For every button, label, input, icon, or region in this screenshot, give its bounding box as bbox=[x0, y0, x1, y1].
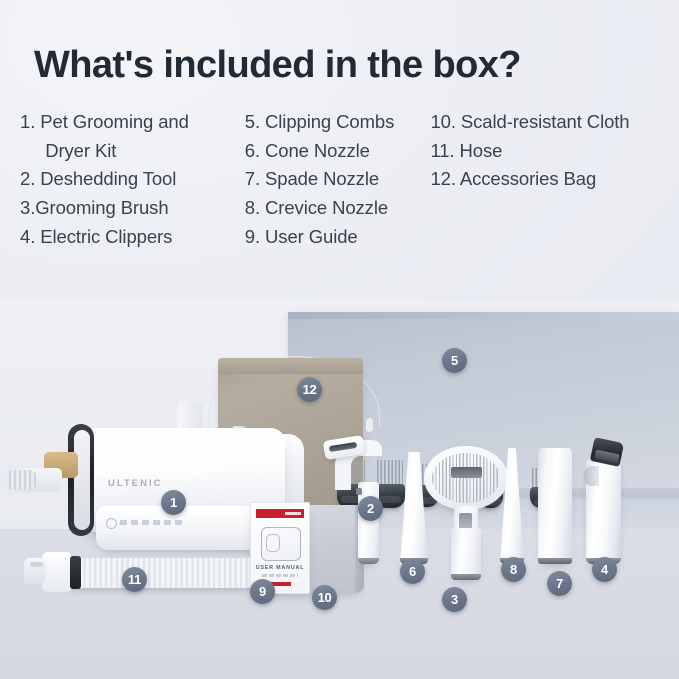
list-item: 10. Scald-resistant Cloth bbox=[430, 108, 665, 137]
deshedding-tool-base bbox=[358, 558, 379, 564]
hose-connector-ribs bbox=[6, 470, 36, 490]
list-item: 5. Clipping Combs bbox=[245, 108, 431, 137]
list-item: 1. Pet Grooming and Dryer Kit bbox=[20, 108, 245, 165]
badge-11: 11 bbox=[122, 567, 147, 592]
hose-cuff bbox=[42, 552, 72, 592]
grooming-brush-bristles bbox=[432, 453, 500, 503]
grooming-brush-stem bbox=[451, 528, 481, 580]
page-title: What's included in the box? bbox=[34, 44, 521, 87]
manual-header-bar bbox=[256, 509, 304, 518]
badge-12: 12 bbox=[297, 377, 322, 402]
infographic-canvas: What's included in the box? 1. Pet Groom… bbox=[0, 0, 679, 679]
main-unit-cap-inner bbox=[74, 430, 90, 530]
badge-10: 10 bbox=[312, 585, 337, 610]
grooming-brush-plate bbox=[451, 467, 482, 478]
manual-title: USER MANUAL bbox=[251, 565, 309, 571]
list-item: 9. User Guide bbox=[245, 223, 431, 252]
bag-toggle bbox=[366, 418, 373, 432]
badge-9: 9 bbox=[250, 579, 275, 604]
list-item: 11. Hose bbox=[430, 137, 665, 166]
list-item: 8. Crevice Nozzle bbox=[245, 194, 431, 223]
hose-ring bbox=[70, 556, 81, 589]
brand-label: ULTENIC bbox=[108, 478, 162, 489]
spade-nozzle bbox=[538, 448, 572, 564]
badge-4: 4 bbox=[592, 557, 617, 582]
bag-fold bbox=[218, 358, 363, 374]
badge-5: 5 bbox=[442, 348, 467, 373]
list-item: 12. Accessories Bag bbox=[430, 165, 665, 194]
included-items-lists: 1. Pet Grooming and Dryer Kit 2. Deshedd… bbox=[20, 108, 665, 251]
list-item: 4. Electric Clippers bbox=[20, 223, 245, 252]
product-photo: ULTENIC USER MANUAL bbox=[0, 300, 679, 679]
badge-8: 8 bbox=[501, 557, 526, 582]
badge-1: 1 bbox=[161, 490, 186, 515]
list-item: 3.Grooming Brush bbox=[20, 194, 245, 223]
badge-6: 6 bbox=[400, 559, 425, 584]
hose-tip-slot bbox=[30, 562, 43, 567]
manual-subtitle-lines bbox=[262, 574, 298, 577]
deshedding-tool-button bbox=[356, 488, 362, 495]
power-icon bbox=[106, 518, 117, 529]
badge-3: 3 bbox=[442, 587, 467, 612]
items-column-1: 1. Pet Grooming and Dryer Kit 2. Deshedd… bbox=[20, 108, 245, 251]
badge-7: 7 bbox=[547, 571, 572, 596]
list-item: 2. Deshedding Tool bbox=[20, 165, 245, 194]
spade-nozzle-base bbox=[538, 558, 572, 564]
manual-illustration bbox=[261, 527, 301, 561]
list-item: 7. Spade Nozzle bbox=[245, 165, 431, 194]
badge-2: 2 bbox=[358, 496, 383, 521]
grooming-brush-base bbox=[451, 574, 481, 580]
items-column-3: 10. Scald-resistant Cloth 11. Hose 12. A… bbox=[430, 108, 665, 251]
items-column-2: 5. Clipping Combs 6. Cone Nozzle 7. Spad… bbox=[245, 108, 431, 251]
list-item: 6. Cone Nozzle bbox=[245, 137, 431, 166]
electric-clippers-guard bbox=[584, 466, 599, 486]
control-label bbox=[120, 520, 184, 525]
